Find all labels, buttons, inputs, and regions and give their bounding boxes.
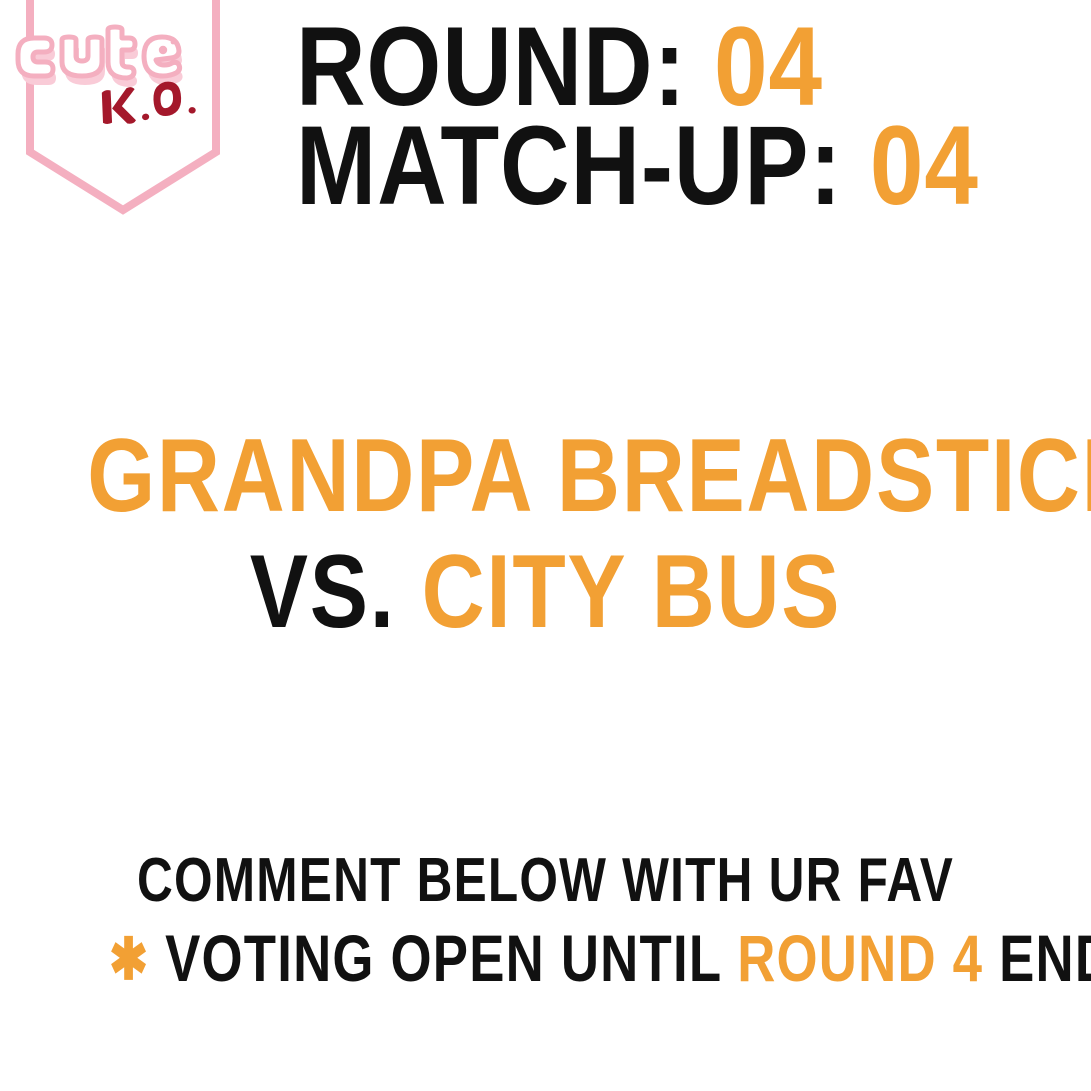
versus-label: VS. — [250, 534, 396, 650]
cta-voting-prefix: VOTING OPEN UNTIL — [165, 921, 721, 995]
cta-voting-suffix: ENDS! — [999, 921, 1091, 995]
brand-pennant-banner — [26, 0, 220, 216]
matchup-line: MATCH-UP: 04 — [296, 117, 915, 216]
poster-canvas: ROUND: 04 MATCH-UP: 04 GRANDPA BREADSTIC… — [0, 0, 1091, 1091]
matchup-block: GRANDPA BREADSTICK VS. CITY BUS — [0, 424, 1091, 644]
cta-comment-line: COMMENT BELOW WITH UR FAV — [109, 848, 982, 914]
cta-voting-line: ✱ VOTING OPEN UNTIL ROUND 4 ENDS!✱ — [109, 924, 982, 994]
cta-voting-highlight: ROUND 4 — [737, 921, 983, 995]
fighter-one: GRANDPA BREADSTICK — [87, 424, 1003, 528]
matchup-value: 04 — [870, 103, 979, 228]
call-to-action-block: COMMENT BELOW WITH UR FAV ✱ VOTING OPEN … — [0, 848, 1091, 994]
fighter-two: CITY BUS — [422, 534, 842, 650]
versus-line: VS. CITY BUS — [87, 540, 1003, 644]
matchup-label: MATCH-UP: — [296, 103, 842, 228]
asterisk-icon-left: ✱ — [109, 927, 149, 992]
pennant-outline-shape — [30, 0, 216, 210]
header-block: ROUND: 04 MATCH-UP: 04 — [296, 18, 1016, 215]
